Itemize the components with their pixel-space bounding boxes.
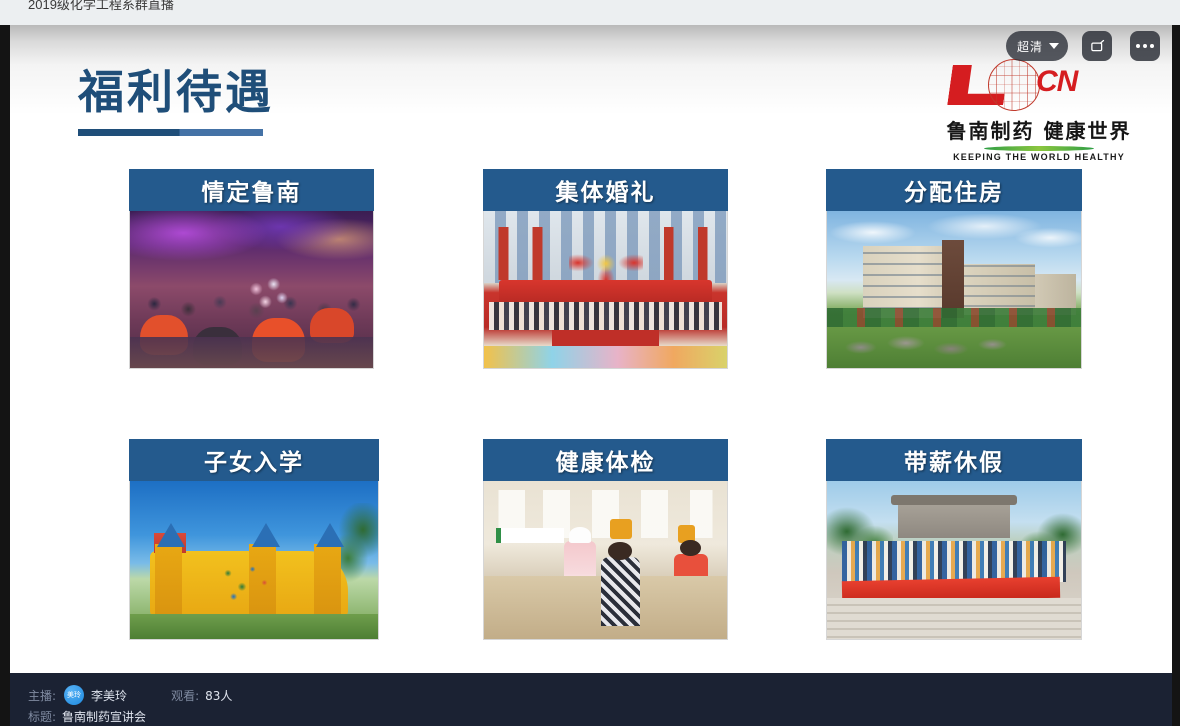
left-edge-strip [0,25,10,726]
benefit-card-grid: 情定鲁南 集体婚礼 [10,25,1172,673]
more-options-button[interactable] [1130,31,1160,61]
photo-steps [827,598,1081,639]
card-banner: 子女入学 [129,439,379,481]
share-button[interactable] [1082,31,1112,61]
card-banner: 集体婚礼 [483,169,728,211]
presentation-slide[interactable]: 福利待遇 CN 鲁南制药 健康世界 KEEPING THE WORLD HEAL… [10,25,1172,673]
card-banner: 情定鲁南 [129,169,374,211]
right-edge-strip [1172,25,1180,726]
photo-building-main [863,246,965,318]
photo-turret-roof [316,523,344,547]
photo-rocks [842,330,1030,358]
photo-green-sign [496,528,564,542]
card-photo-trip [826,481,1082,640]
photo-wedding-couples [489,302,722,330]
card-label: 情定鲁南 [202,173,302,207]
card-photo-housing [826,211,1082,369]
more-dots-icon [1136,44,1154,48]
viewers-group: 观看: 83人 [171,687,232,704]
benefit-card[interactable]: 情定鲁南 [129,169,374,369]
photo-turret [155,544,182,617]
photo-balloons [247,277,293,317]
photo-counter-number-3 [610,519,632,540]
photo-lawn [130,614,378,639]
card-label: 健康体检 [556,443,656,477]
photo-floor [130,337,373,368]
card-label: 子女入学 [204,443,304,477]
viewers-count: 83人 [205,687,232,704]
benefit-card[interactable]: 集体婚礼 [483,169,728,369]
stream-title-label: 标题: [28,708,56,725]
card-label: 带薪休假 [904,443,1004,477]
window-title-bar: 2019级化学工程系群直播 [0,0,1180,20]
avatar[interactable]: 美玲 [64,685,84,705]
quality-selector[interactable]: 超清 [1006,31,1068,61]
quality-label: 超清 [1017,38,1043,55]
photo-building-mid [959,264,1035,314]
stream-title-value: 鲁南制药宣讲会 [62,708,146,725]
viewers-label: 观看: [171,687,199,704]
avatar-text: 美玲 [67,690,81,700]
host-name: 李美玲 [91,687,127,704]
card-photo-school [129,481,379,640]
window-title: 2019级化学工程系群直播 [28,0,174,15]
photo-patient [601,557,640,627]
photo-shrubs [827,308,1081,327]
stream-info-bar: 主播: 美玲 李美玲 观看: 83人 标题: 鲁南制药宣讲会 [10,673,1172,726]
photo-turret-roof [252,523,280,547]
benefit-card[interactable]: 分配住房 [826,169,1082,369]
photo-group-crowd [842,541,1066,582]
card-label: 集体婚礼 [556,173,656,207]
title-row: 标题: 鲁南制药宣讲会 [28,708,146,725]
host-label: 主播: [28,687,56,704]
photo-turret [314,544,341,617]
host-row: 主播: 美玲 李美玲 观看: 83人 [28,685,232,705]
card-banner: 健康体检 [483,439,728,481]
card-banner: 分配住房 [826,169,1082,211]
card-photo-wedding [483,211,728,369]
card-label: 分配住房 [904,173,1004,207]
photo-turret-roof [157,523,185,547]
photo-footer-strip [484,346,727,368]
benefit-card[interactable]: 健康体检 [483,439,728,640]
share-screen-icon [1090,39,1105,54]
card-photo-banquet [129,211,374,369]
card-banner: 带薪休假 [826,439,1082,481]
photo-wall-dots [214,563,283,604]
benefit-card[interactable]: 带薪休假 [826,439,1082,640]
card-photo-clinic [483,481,728,640]
benefit-card[interactable]: 子女入学 [129,439,379,640]
photo-stone-gate [898,503,1010,538]
chevron-down-icon [1049,43,1059,49]
